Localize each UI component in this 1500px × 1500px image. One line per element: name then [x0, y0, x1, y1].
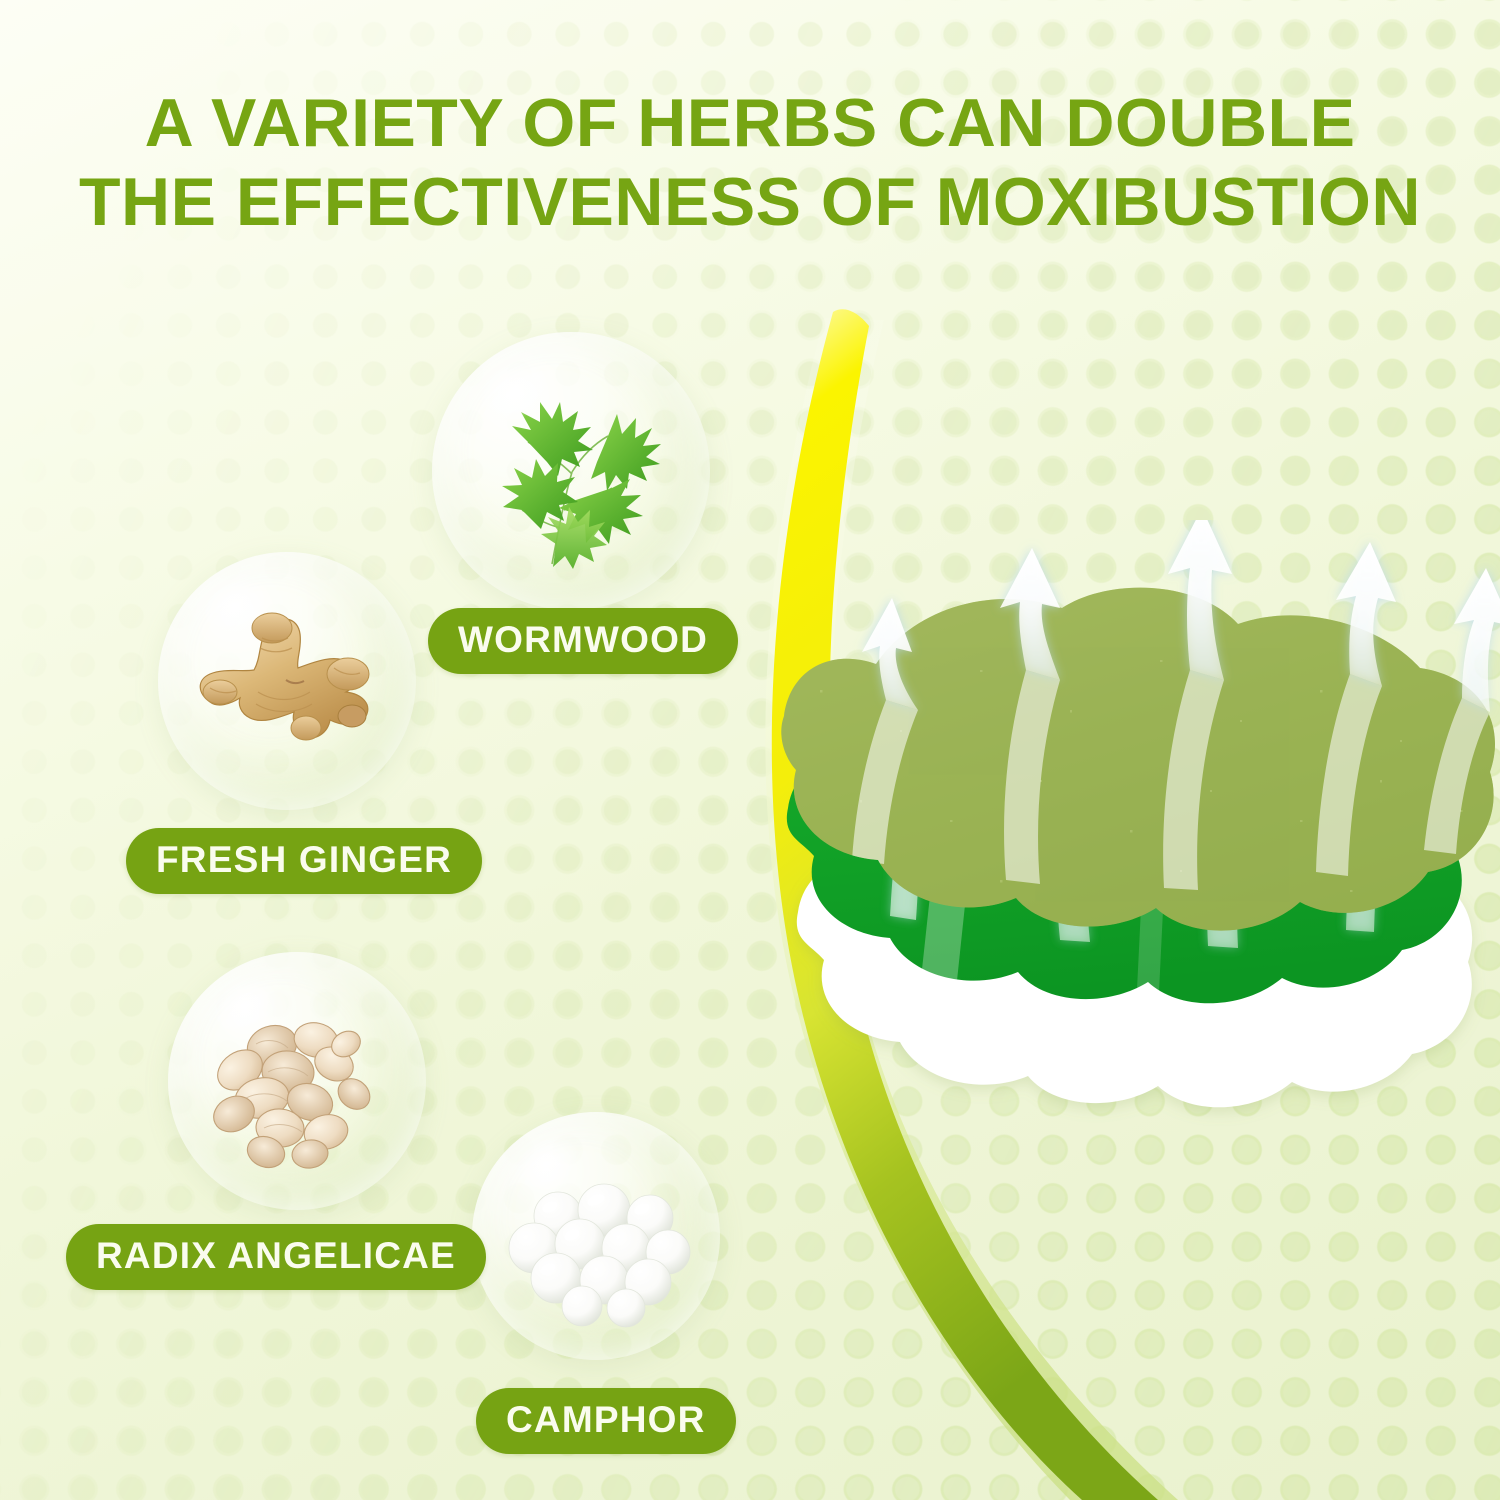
wormwood-sprig-icon: [432, 332, 710, 610]
poster-canvas: A VARIETY OF HERBS CAN DOUBLE THE EFFECT…: [0, 0, 1500, 1500]
title-line-1: A VARIETY OF HERBS CAN DOUBLE: [0, 84, 1500, 163]
bubble-camphor: [472, 1112, 720, 1360]
three-layer-moxibustion-patch: [760, 520, 1500, 1160]
dried-root-slices-icon: [168, 952, 426, 1210]
camphor-balls-icon: [472, 1112, 720, 1360]
label-wormwood: WORMWOOD: [428, 608, 738, 674]
bubble-fresh-ginger: [158, 552, 416, 810]
bubble-wormwood: [432, 332, 710, 610]
label-camphor: CAMPHOR: [476, 1388, 736, 1454]
ginger-root-icon: [158, 552, 416, 810]
title-line-2: THE EFFECTIVENESS OF MOXIBUSTION: [0, 163, 1500, 242]
label-radix-angelicae: RADIX ANGELICAE: [66, 1224, 486, 1290]
page-title: A VARIETY OF HERBS CAN DOUBLE THE EFFECT…: [0, 84, 1500, 242]
bubble-radix-angelicae: [168, 952, 426, 1210]
label-fresh-ginger: FRESH GINGER: [126, 828, 482, 894]
